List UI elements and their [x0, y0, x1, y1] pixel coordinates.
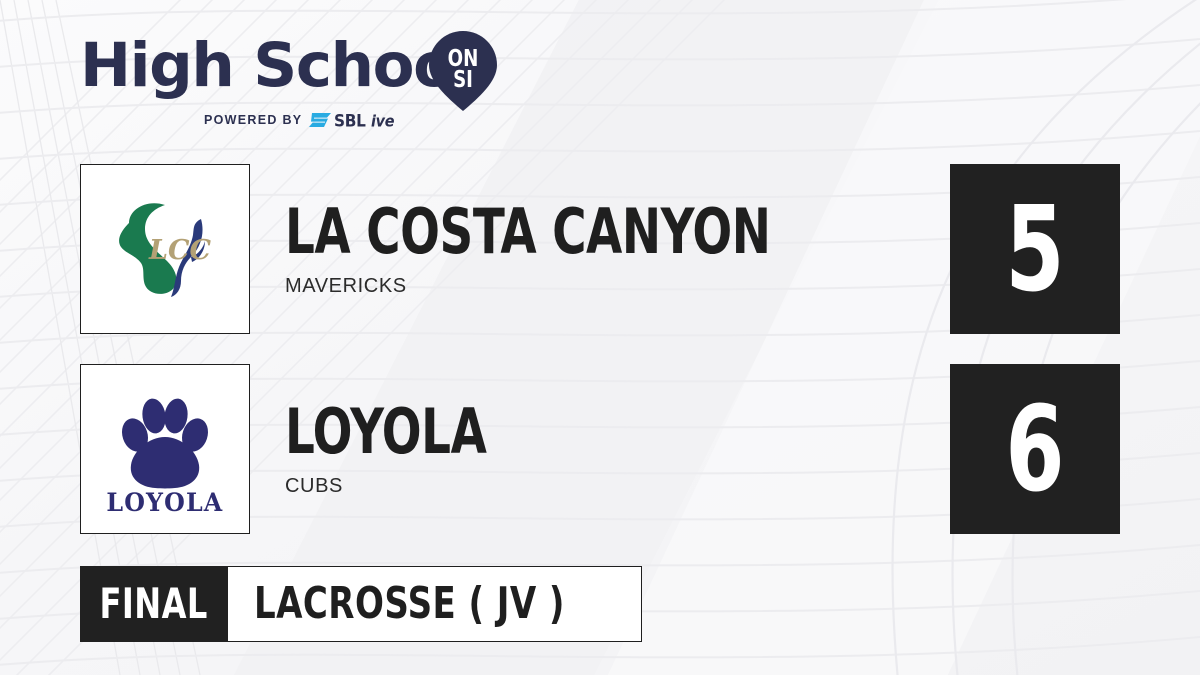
svg-text:SBL: SBL: [334, 112, 366, 131]
team-identity: LOYOLA CUBS: [285, 364, 525, 534]
team-mascot: CUBS: [285, 475, 525, 497]
game-status-bar: FINAL LACROSSE ( JV ): [80, 566, 642, 642]
team-score-box: 6: [950, 364, 1120, 534]
sblive-logo-icon: SBL ive: [309, 110, 419, 130]
svg-text:ive: ive: [371, 112, 395, 131]
team-logo-box: LOYOLA: [80, 364, 250, 534]
team-name: LOYOLA: [285, 401, 486, 463]
team-score: 6: [1005, 390, 1064, 508]
team-logo-monogram: LCC: [148, 235, 211, 266]
team-logo-wordmark: LOYOLA: [106, 487, 223, 513]
la-costa-canyon-bull-logo-icon: LCC: [105, 189, 225, 309]
team-row: LOYOLA LOYOLA CUBS 6: [0, 364, 1200, 534]
sport-label-box: LACROSSE ( JV ): [228, 566, 642, 642]
team-mascot: MAVERICKS: [285, 275, 863, 297]
loyola-paw-print-logo-icon: LOYOLA: [105, 385, 225, 513]
sport-label: LACROSSE ( JV ): [254, 582, 565, 626]
team-logo-box: LCC: [80, 164, 250, 334]
team-row: LCC LA COSTA CANYON MAVERICKS 5: [0, 164, 1200, 334]
brand-wordmark: High School: [80, 33, 473, 99]
on-si-pin-icon: ON SI: [425, 29, 501, 113]
brand-lockup: High School ON SI POWERED BY SBL ive: [80, 33, 540, 138]
team-score-box: 5: [950, 164, 1120, 334]
powered-by-block: POWERED BY SBL ive: [204, 109, 419, 131]
team-identity: LA COSTA CANYON MAVERICKS: [285, 164, 863, 334]
team-name: LA COSTA CANYON: [285, 201, 771, 263]
status-badge: FINAL: [80, 566, 228, 642]
powered-by-label: POWERED BY: [204, 113, 302, 127]
on-si-pin-line2: SI: [453, 67, 473, 94]
status-badge-label: FINAL: [100, 583, 208, 625]
team-score: 5: [1005, 190, 1064, 308]
